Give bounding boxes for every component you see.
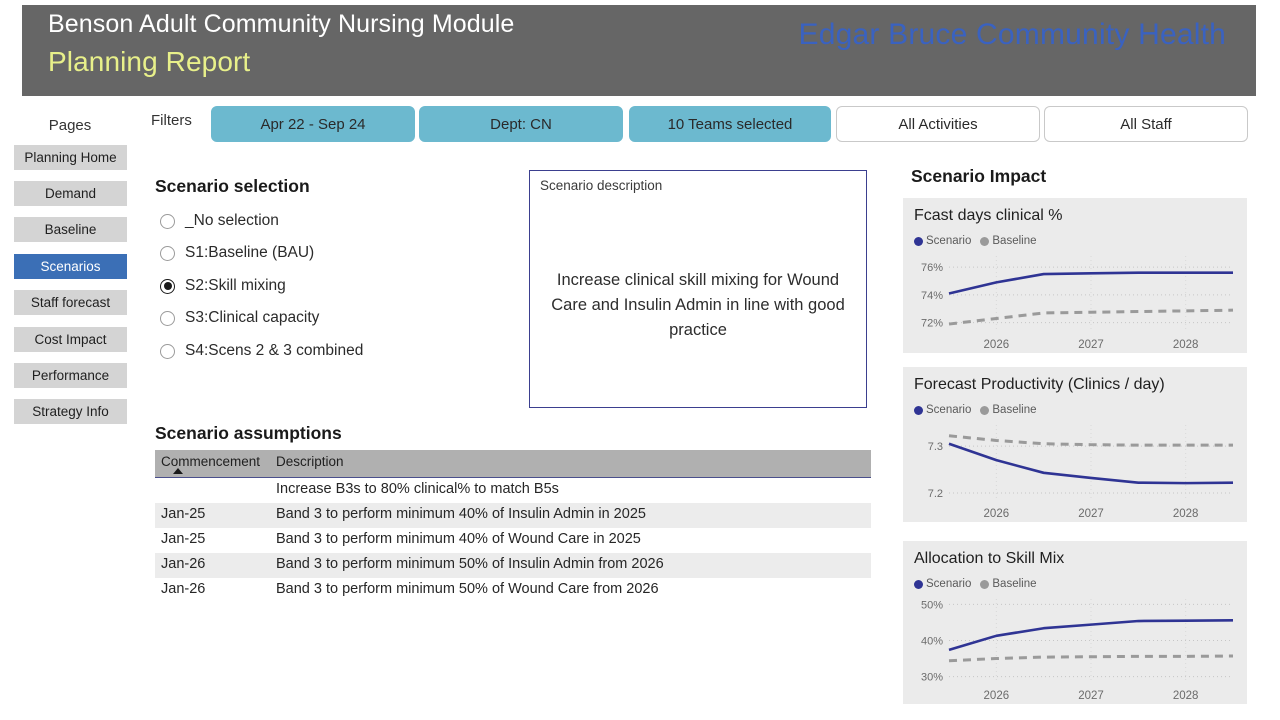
scenario-impact-title: Scenario Impact xyxy=(911,166,1046,187)
chart-legend: Scenario Baseline xyxy=(914,235,1037,247)
chart-legend: Scenario Baseline xyxy=(914,578,1037,590)
chart-title: Fcast days clinical % xyxy=(914,207,1063,225)
sidebar-item-performance[interactable]: Performance xyxy=(14,363,127,388)
svg-text:72%: 72% xyxy=(921,318,943,330)
svg-text:74%: 74% xyxy=(921,290,943,302)
radio-icon xyxy=(160,214,175,229)
scenario-selection-title: Scenario selection xyxy=(155,176,310,197)
legend-label: Scenario xyxy=(926,235,971,247)
svg-text:2027: 2027 xyxy=(1078,690,1104,702)
radio-option-s1-baseline[interactable]: S1:Baseline (BAU) xyxy=(160,240,314,266)
legend-item-scenario[interactable]: Scenario xyxy=(914,404,971,416)
chart-card-allocation-skill-mix[interactable]: Allocation to Skill Mix Scenario Baselin… xyxy=(903,541,1247,704)
legend-item-scenario[interactable]: Scenario xyxy=(914,578,971,590)
filters-label: Filters xyxy=(151,112,192,129)
legend-item-baseline[interactable]: Baseline xyxy=(980,404,1036,416)
table-row[interactable]: Jan-26 Band 3 to perform minimum 50% of … xyxy=(155,578,871,603)
svg-text:2028: 2028 xyxy=(1173,508,1199,520)
sort-ascending-icon xyxy=(173,468,183,474)
legend-dot-scenario-icon xyxy=(914,406,923,415)
filter-staff[interactable]: All Staff xyxy=(1044,106,1248,142)
cell-description: Increase B3s to 80% clinical% to match B… xyxy=(276,481,559,497)
legend-dot-baseline-icon xyxy=(980,580,989,589)
radio-label: S2:Skill mixing xyxy=(185,277,286,295)
svg-text:2026: 2026 xyxy=(984,339,1010,351)
radio-icon xyxy=(160,311,175,326)
svg-text:40%: 40% xyxy=(921,636,943,648)
legend-dot-baseline-icon xyxy=(980,406,989,415)
sidebar-item-planning-home[interactable]: Planning Home xyxy=(14,145,127,170)
sidebar-item-cost-impact[interactable]: Cost Impact xyxy=(14,327,127,352)
chart-plot-area: 7.27.3202620272028 xyxy=(903,419,1247,522)
report-header: Benson Adult Community Nursing Module Pl… xyxy=(22,5,1256,96)
radio-option-s2-skill-mixing[interactable]: S2:Skill mixing xyxy=(160,273,286,299)
legend-label: Scenario xyxy=(926,578,971,590)
scenario-assumptions-title: Scenario assumptions xyxy=(155,423,342,444)
assumptions-table: Commencement Description Increase B3s to… xyxy=(155,450,871,603)
radio-label: S4:Scens 2 & 3 combined xyxy=(185,342,363,360)
legend-item-baseline[interactable]: Baseline xyxy=(980,578,1036,590)
chart-plot-area: 30%40%50%202620272028 xyxy=(903,593,1247,704)
scenario-description-caption: Scenario description xyxy=(540,178,662,193)
legend-label: Baseline xyxy=(992,578,1036,590)
svg-text:2028: 2028 xyxy=(1173,339,1199,351)
cell-commencement: Jan-25 xyxy=(161,506,205,522)
chart-card-fcast-days-clinical[interactable]: Fcast days clinical % Scenario Baseline … xyxy=(903,198,1247,353)
radio-label: _No selection xyxy=(185,212,279,230)
cell-description: Band 3 to perform minimum 50% of Wound C… xyxy=(276,581,659,597)
radio-option-s3-clinical-capacity[interactable]: S3:Clinical capacity xyxy=(160,305,319,331)
page-title: Benson Adult Community Nursing Module xyxy=(48,10,514,39)
page-subtitle: Planning Report xyxy=(48,46,250,78)
svg-text:2026: 2026 xyxy=(984,690,1010,702)
legend-dot-scenario-icon xyxy=(914,237,923,246)
filter-date-range[interactable]: Apr 22 - Sep 24 xyxy=(211,106,415,142)
sidebar-item-scenarios[interactable]: Scenarios xyxy=(14,254,127,279)
column-header-commencement[interactable]: Commencement xyxy=(161,454,260,469)
chart-legend: Scenario Baseline xyxy=(914,404,1037,416)
chart-plot-area: 72%74%76%202620272028 xyxy=(903,250,1247,353)
filter-activities[interactable]: All Activities xyxy=(836,106,1040,142)
radio-icon-selected xyxy=(160,279,175,294)
radio-option-s4-combined[interactable]: S4:Scens 2 & 3 combined xyxy=(160,338,363,364)
table-row[interactable]: Increase B3s to 80% clinical% to match B… xyxy=(155,478,871,503)
table-row[interactable]: Jan-25 Band 3 to perform minimum 40% of … xyxy=(155,528,871,553)
radio-icon xyxy=(160,246,175,261)
legend-label: Baseline xyxy=(992,235,1036,247)
chart-title: Forecast Productivity (Clinics / day) xyxy=(914,376,1165,394)
legend-dot-baseline-icon xyxy=(980,237,989,246)
legend-label: Baseline xyxy=(992,404,1036,416)
sidebar-item-baseline[interactable]: Baseline xyxy=(14,217,127,242)
sidebar-item-strategy-info[interactable]: Strategy Info xyxy=(14,399,127,424)
sidebar-item-demand[interactable]: Demand xyxy=(14,181,127,206)
legend-dot-scenario-icon xyxy=(914,580,923,589)
cell-commencement: Jan-26 xyxy=(161,581,205,597)
filter-department[interactable]: Dept: CN xyxy=(419,106,623,142)
cell-commencement: Jan-25 xyxy=(161,531,205,547)
report-page: Benson Adult Community Nursing Module Pl… xyxy=(0,0,1280,720)
radio-label: S3:Clinical capacity xyxy=(185,309,319,327)
cell-commencement: Jan-26 xyxy=(161,556,205,572)
svg-text:7.2: 7.2 xyxy=(928,488,943,500)
column-header-description[interactable]: Description xyxy=(276,454,344,469)
cell-description: Band 3 to perform minimum 40% of Wound C… xyxy=(276,531,641,547)
organisation-name: Edgar Bruce Community Health xyxy=(799,18,1226,52)
svg-text:76%: 76% xyxy=(921,262,943,274)
sidebar-item-staff-forecast[interactable]: Staff forecast xyxy=(14,290,127,315)
radio-icon xyxy=(160,344,175,359)
pages-label: Pages xyxy=(0,117,140,134)
svg-text:2027: 2027 xyxy=(1078,339,1104,351)
legend-item-scenario[interactable]: Scenario xyxy=(914,235,971,247)
filter-teams[interactable]: 10 Teams selected xyxy=(629,106,831,142)
scenario-description-text: Increase clinical skill mixing for Wound… xyxy=(548,268,848,343)
chart-title: Allocation to Skill Mix xyxy=(914,550,1064,568)
cell-description: Band 3 to perform minimum 50% of Insulin… xyxy=(276,556,664,572)
table-header-row: Commencement Description xyxy=(155,450,871,478)
svg-text:2027: 2027 xyxy=(1078,508,1104,520)
radio-label: S1:Baseline (BAU) xyxy=(185,244,314,262)
svg-text:2026: 2026 xyxy=(984,508,1010,520)
legend-label: Scenario xyxy=(926,404,971,416)
table-row[interactable]: Jan-25 Band 3 to perform minimum 40% of … xyxy=(155,503,871,528)
svg-text:7.3: 7.3 xyxy=(928,441,943,453)
legend-item-baseline[interactable]: Baseline xyxy=(980,235,1036,247)
scenario-description-card: Scenario description Increase clinical s… xyxy=(529,170,867,408)
cell-description: Band 3 to perform minimum 40% of Insulin… xyxy=(276,506,646,522)
svg-text:30%: 30% xyxy=(921,672,943,684)
svg-text:50%: 50% xyxy=(921,599,943,611)
svg-text:2028: 2028 xyxy=(1173,690,1199,702)
radio-option-no-selection[interactable]: _No selection xyxy=(160,208,279,234)
chart-card-forecast-productivity[interactable]: Forecast Productivity (Clinics / day) Sc… xyxy=(903,367,1247,522)
table-row[interactable]: Jan-26 Band 3 to perform minimum 50% of … xyxy=(155,553,871,578)
